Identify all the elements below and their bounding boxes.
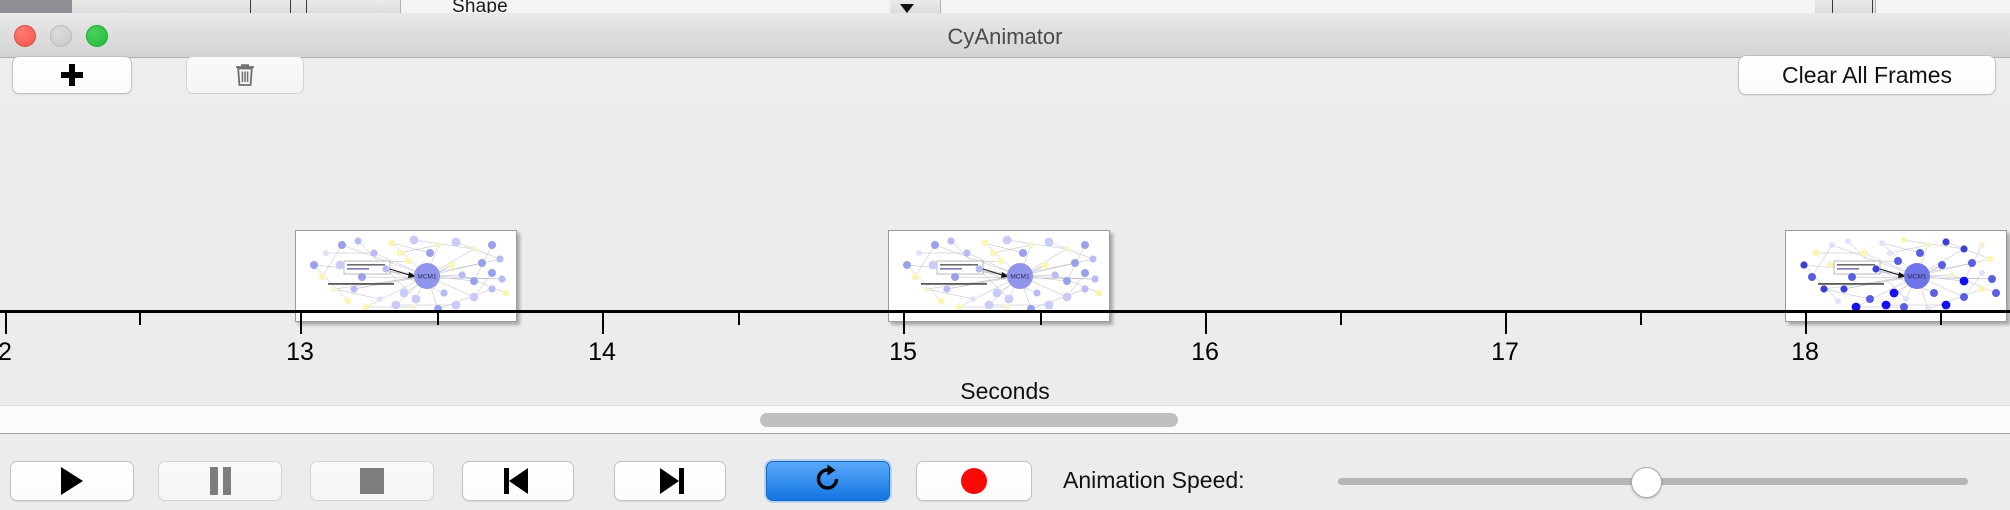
stop-icon [360, 468, 384, 494]
background-window-tick [250, 0, 251, 13]
timeline-tick-label: 15 [889, 338, 917, 367]
svg-text:MCM1: MCM1 [417, 274, 437, 281]
plus-icon [61, 64, 83, 86]
skip-next-button[interactable] [614, 461, 726, 501]
timeline-frame-thumbnail[interactable]: MCM1 [295, 230, 517, 322]
record-button[interactable] [916, 461, 1032, 501]
timeline-tick [300, 313, 302, 334]
background-window-tick [306, 0, 307, 13]
trash-icon [235, 63, 255, 87]
svg-text:MCM1: MCM1 [1907, 274, 1927, 281]
loop-button[interactable] [766, 461, 890, 501]
svg-text:MCM1: MCM1 [1010, 274, 1030, 281]
loop-icon [813, 464, 843, 499]
background-window-tick [1832, 0, 1833, 13]
skip-previous-button[interactable] [462, 461, 574, 501]
record-icon [961, 468, 987, 494]
timeline-tick [1805, 313, 1807, 334]
background-window-chip [156, 0, 201, 13]
timeline-tick [1340, 313, 1342, 325]
timeline-tick [437, 313, 439, 325]
timeline-panel[interactable]: MCM1MCM1MCM1 2131415161718 Seconds [0, 110, 2010, 405]
background-window-chip [72, 0, 157, 13]
play-button[interactable] [10, 461, 134, 501]
background-window-chip [1815, 0, 1876, 13]
frame-network-canvas: MCM1 [296, 231, 516, 321]
timeline-scrollbar-thumb[interactable] [760, 413, 1178, 427]
clear-all-frames-button[interactable]: Clear All Frames [1738, 55, 1996, 95]
delete-frame-button[interactable] [186, 56, 304, 94]
timeline-tick-label: 16 [1191, 338, 1219, 367]
timeline-tick [5, 313, 7, 334]
network-graph: MCM1 [296, 231, 516, 321]
frame-network-canvas: MCM1 [889, 231, 1109, 321]
background-window-strip: Shape [0, 0, 2010, 14]
animation-speed-slider-thumb[interactable] [1631, 467, 1662, 498]
add-frame-button[interactable] [12, 56, 132, 94]
network-graph: MCM1 [1786, 231, 2006, 321]
timeline-tick [602, 313, 604, 334]
background-window-dark-chip [0, 0, 72, 13]
timeline-tick-label: 13 [286, 338, 314, 367]
background-window-tick [1872, 0, 1873, 13]
timeline-tick [903, 313, 905, 334]
timeline-tick [1640, 313, 1642, 325]
skip-next-icon [656, 467, 684, 495]
background-window-label: Shape [452, 0, 508, 14]
timeline-tick-label: 14 [588, 338, 616, 367]
timeline-frame-thumbnail[interactable]: MCM1 [888, 230, 1110, 322]
axis-title: Seconds [0, 378, 2010, 405]
animation-speed-label: Animation Speed: [1063, 467, 1245, 494]
stop-button[interactable] [310, 461, 434, 501]
pause-button[interactable] [158, 461, 282, 501]
timeline-scrollbar[interactable] [0, 405, 2010, 434]
pause-icon [210, 467, 231, 495]
timeline-tick [139, 313, 141, 325]
skip-previous-icon [504, 467, 532, 495]
window-title: CyAnimator [0, 24, 2010, 50]
timeline-tick [738, 313, 740, 325]
cyanimator-window: Shape CyAnimator Clear All Frames MCM1MC… [0, 0, 2010, 510]
timeline-tick-label: 17 [1491, 338, 1519, 367]
background-window-chip [890, 0, 941, 13]
background-window-arrow-icon [900, 4, 914, 13]
title-bar: CyAnimator [0, 13, 2010, 58]
timeline-tick-label: 2 [0, 338, 12, 367]
timeline-tick [1205, 313, 1207, 334]
timeline-tick [1040, 313, 1042, 325]
background-window-chip [300, 0, 401, 13]
network-graph: MCM1 [889, 231, 1109, 321]
timeline-tick [1505, 313, 1507, 334]
background-window-chip [200, 0, 241, 13]
timeline-frame-thumbnail[interactable]: MCM1 [1785, 230, 2007, 322]
frame-network-canvas: MCM1 [1786, 231, 2006, 321]
background-window-tick [290, 0, 291, 13]
timeline-tick-label: 18 [1791, 338, 1819, 367]
play-icon [61, 467, 83, 495]
timeline-tick [1940, 313, 1942, 325]
